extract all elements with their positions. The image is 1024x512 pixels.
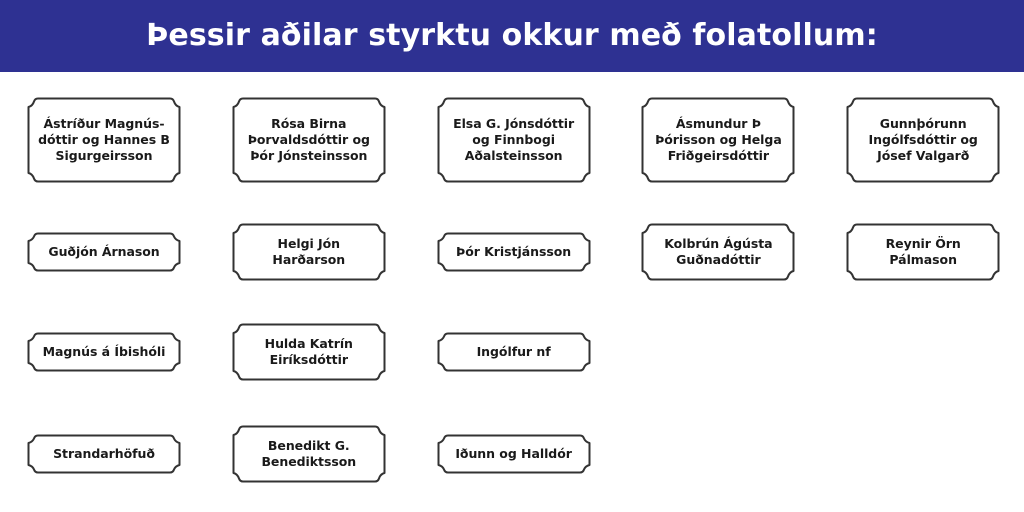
sponsor-plaque[interactable]: Ásmundur Þ Þórisson og Helga Friðgeirsdó… [641, 97, 795, 183]
sponsor-name: Rósa Birna Þorvaldsdóttir og Þór Jónstei… [239, 116, 379, 165]
sponsor-name: Helgi Jón Harðarson [263, 236, 354, 269]
sponsor-name: Reynir Örn Pálmason [877, 236, 970, 269]
plaque-cell: Ásmundur Þ Þórisson og Helga Friðgeirsdó… [614, 84, 819, 196]
sponsor-name: Ástríður Magnús- dóttir og Hannes B Sigu… [29, 116, 179, 165]
plaque-cell: Strandarhöfuð [0, 404, 205, 504]
plaque-cell: Ástríður Magnús- dóttir og Hannes B Sigu… [0, 84, 205, 196]
sponsor-name: Gunnþórunn Ingólfsdóttir og Jósef Valgar… [860, 116, 987, 165]
sponsor-name: Kolbrún Ágústa Guðnadóttir [655, 236, 781, 269]
plaque-cell: Ingólfur nf [410, 304, 615, 400]
sponsor-name: Þór Kristjánsson [447, 244, 580, 260]
sponsor-name: Ásmundur Þ Þórisson og Helga Friðgeirsdó… [646, 116, 791, 165]
plaque-cell: Rósa Birna Þorvaldsdóttir og Þór Jónstei… [205, 84, 410, 196]
plaque-row: Guðjón Árnason Helgi Jón Harðarson [0, 204, 1024, 300]
sponsor-plaque[interactable]: Gunnþórunn Ingólfsdóttir og Jósef Valgar… [846, 97, 1000, 183]
page-title: Þessir aðilar styrktu okkur með folatoll… [146, 21, 878, 51]
plaque-cell: Gunnþórunn Ingólfsdóttir og Jósef Valgar… [819, 84, 1024, 196]
plaque-cell: Hulda Katrín Eiríksdóttir [205, 304, 410, 400]
plaque-cell: Helgi Jón Harðarson [205, 204, 410, 300]
sponsor-plaque[interactable]: Kolbrún Ágústa Guðnadóttir [641, 223, 795, 281]
sponsor-plaque[interactable]: Strandarhöfuð [27, 434, 181, 474]
sponsor-name: Guðjón Árnason [39, 244, 168, 260]
plaque-grid: Ástríður Magnús- dóttir og Hannes B Sigu… [0, 72, 1024, 512]
plaque-row: Ástríður Magnús- dóttir og Hannes B Sigu… [0, 84, 1024, 196]
plaque-cell: Kolbrún Ágústa Guðnadóttir [614, 204, 819, 300]
sponsor-plaque[interactable]: Ástríður Magnús- dóttir og Hannes B Sigu… [27, 97, 181, 183]
plaque-row: Strandarhöfuð Benedikt G. Benediktsson [0, 404, 1024, 504]
sponsor-plaque[interactable]: Iðunn og Halldór [437, 434, 591, 474]
plaque-cell: Iðunn og Halldór [410, 404, 615, 504]
sponsor-plaque[interactable]: Benedikt G. Benediktsson [232, 425, 386, 483]
sponsor-name: Strandarhöfuð [44, 446, 164, 462]
sponsor-name: Iðunn og Halldór [446, 446, 581, 462]
sponsor-plaque[interactable]: Helgi Jón Harðarson [232, 223, 386, 281]
sponsor-plaque[interactable]: Hulda Katrín Eiríksdóttir [232, 323, 386, 381]
sponsor-name: Hulda Katrín Eiríksdóttir [256, 336, 362, 369]
sponsor-plaque[interactable]: Þór Kristjánsson [437, 232, 591, 272]
plaque-cell: Benedikt G. Benediktsson [205, 404, 410, 504]
sponsor-plaque[interactable]: Ingólfur nf [437, 332, 591, 372]
plaque-cell: Reynir Örn Pálmason [819, 204, 1024, 300]
plaque-cell: Guðjón Árnason [0, 204, 205, 300]
plaque-cell-empty [819, 404, 1024, 504]
sponsor-name: Benedikt G. Benediktsson [252, 438, 365, 471]
sponsor-board: Þessir aðilar styrktu okkur með folatoll… [0, 0, 1024, 512]
sponsor-name: Elsa G. Jónsdóttir og Finnbogi Aðalstein… [444, 116, 583, 165]
header-banner: Þessir aðilar styrktu okkur með folatoll… [0, 0, 1024, 72]
plaque-cell-empty [614, 404, 819, 504]
plaque-cell: Elsa G. Jónsdóttir og Finnbogi Aðalstein… [410, 84, 615, 196]
sponsor-plaque[interactable]: Guðjón Árnason [27, 232, 181, 272]
plaque-cell-empty [614, 304, 819, 400]
sponsor-name: Ingólfur nf [468, 344, 560, 360]
sponsor-plaque[interactable]: Magnús á Íbishóli [27, 332, 181, 372]
plaque-cell-empty [819, 304, 1024, 400]
sponsor-plaque[interactable]: Rósa Birna Þorvaldsdóttir og Þór Jónstei… [232, 97, 386, 183]
sponsor-plaque[interactable]: Reynir Örn Pálmason [846, 223, 1000, 281]
sponsor-name: Magnús á Íbishóli [34, 344, 175, 360]
plaque-row: Magnús á Íbishóli Hulda Katrín Eiríksdót… [0, 304, 1024, 400]
plaque-cell: Þór Kristjánsson [410, 204, 615, 300]
sponsor-plaque[interactable]: Elsa G. Jónsdóttir og Finnbogi Aðalstein… [437, 97, 591, 183]
plaque-cell: Magnús á Íbishóli [0, 304, 205, 400]
